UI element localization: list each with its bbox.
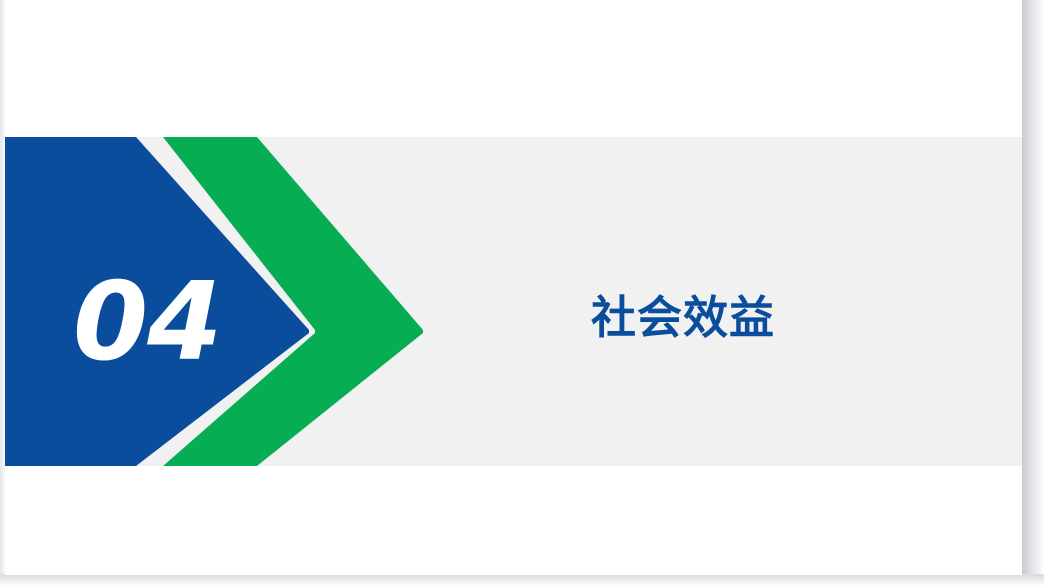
section-title: 社会效益 bbox=[591, 290, 775, 346]
slide-shadow-right bbox=[1022, 0, 1044, 578]
slide-viewer: 04 社会效益 bbox=[0, 0, 1044, 586]
slide-shadow-bottom bbox=[0, 574, 1044, 586]
section-number: 04 bbox=[73, 268, 233, 383]
slide-canvas: 04 社会效益 bbox=[5, 0, 1022, 575]
